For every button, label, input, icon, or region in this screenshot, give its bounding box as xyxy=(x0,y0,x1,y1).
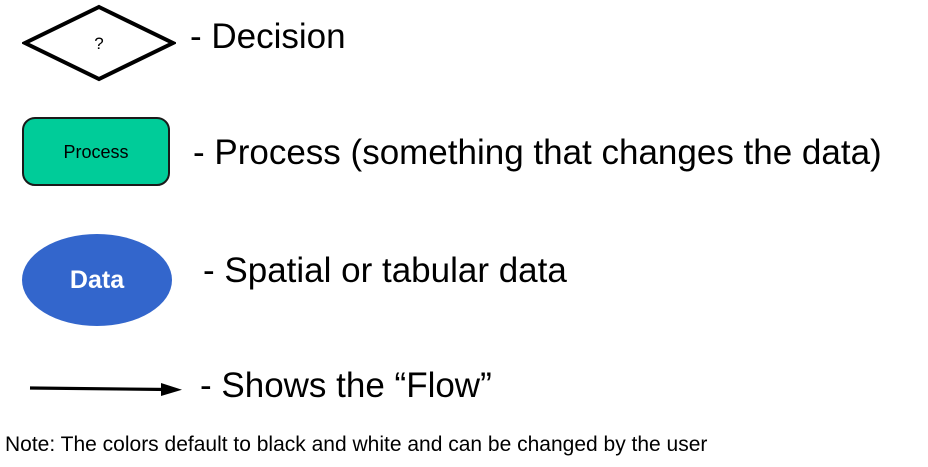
process-rounded-rect-shape: Process xyxy=(22,117,170,186)
footnote-text: Note: The colors default to black and wh… xyxy=(5,433,707,457)
legend-row-process: Process - Process (something that change… xyxy=(0,105,928,220)
flow-arrow-icon xyxy=(28,373,188,401)
legend-row-decision: ? - Decision xyxy=(0,0,928,105)
decision-shape-label: ? xyxy=(22,4,176,82)
data-ellipse-shape: Data xyxy=(22,234,172,326)
data-description-label: - Spatial or tabular data xyxy=(203,251,567,291)
decision-description-label: - Decision xyxy=(190,17,346,57)
flow-description-label: - Shows the “Flow” xyxy=(200,366,492,406)
process-description-label: - Process (something that changes the da… xyxy=(193,133,882,173)
flowchart-legend-canvas: ? - Decision Process - Process (somethin… xyxy=(0,0,928,467)
process-shape-label: Process xyxy=(63,143,128,161)
data-shape-label: Data xyxy=(70,268,124,293)
